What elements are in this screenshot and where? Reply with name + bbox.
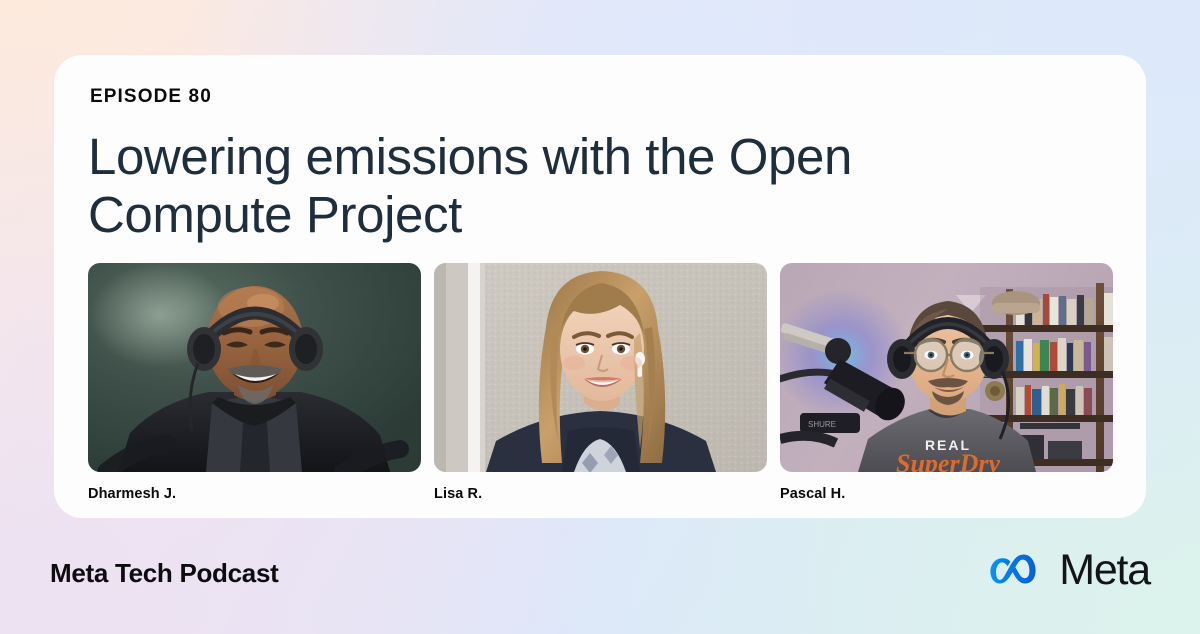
- speaker-card-2: Lisa R.: [434, 263, 767, 502]
- podcast-name: Meta Tech Podcast: [50, 558, 278, 589]
- meta-infinity-icon: [988, 554, 1046, 588]
- speaker-name: Lisa R.: [434, 486, 767, 502]
- speaker-card-3: SHURE: [780, 263, 1113, 502]
- speaker-photo-lisa: [434, 263, 767, 472]
- svg-text:SuperDry: SuperDry: [896, 449, 1000, 472]
- speaker-photo-pascal: SHURE: [780, 263, 1113, 472]
- speaker-photo-dharmesh: [88, 263, 421, 472]
- meta-wordmark: Meta: [1059, 549, 1150, 592]
- episode-label: EPISODE 80: [90, 86, 212, 108]
- speaker-name: Pascal H.: [780, 486, 1113, 502]
- page-title: Lowering emissions with the Open Compute…: [88, 128, 988, 244]
- svg-text:SHURE: SHURE: [808, 420, 836, 429]
- speakers-row: Dharmesh J.: [88, 263, 1114, 502]
- speaker-card-1: Dharmesh J.: [88, 263, 421, 502]
- speaker-name: Dharmesh J.: [88, 486, 421, 502]
- meta-brand-logo: Meta: [988, 549, 1150, 592]
